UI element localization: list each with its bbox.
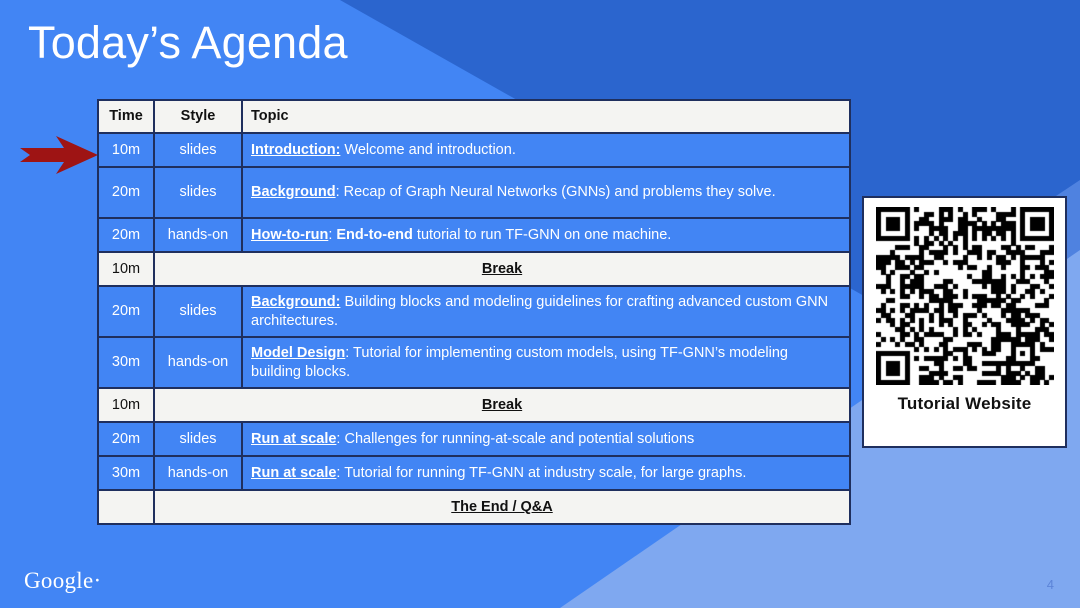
row-end-label: The End / Q&A bbox=[154, 490, 850, 524]
table-row-end: The End / Q&A bbox=[98, 490, 850, 524]
google-logo: Google· bbox=[24, 568, 101, 594]
row-time: 20m bbox=[98, 286, 154, 337]
row-style: hands-on bbox=[154, 337, 242, 388]
topic-lead: Background: bbox=[251, 294, 340, 310]
row-style: hands-on bbox=[154, 218, 242, 252]
table-row[interactable]: 20m hands-on How-to-run: End-to-end tuto… bbox=[98, 218, 850, 252]
row-topic: Model Design: Tutorial for implementing … bbox=[242, 337, 850, 388]
row-time: 30m bbox=[98, 456, 154, 490]
row-time bbox=[98, 490, 154, 524]
table-row[interactable]: 10m slides Introduction: Welcome and int… bbox=[98, 133, 850, 167]
topic-lead: Run at scale bbox=[251, 465, 336, 481]
table-row[interactable]: 20m slides Run at scale: Challenges for … bbox=[98, 422, 850, 456]
table-row[interactable]: 30m hands-on Run at scale: Tutorial for … bbox=[98, 456, 850, 490]
row-time: 10m bbox=[98, 133, 154, 167]
row-topic: Background: Building blocks and modeling… bbox=[242, 286, 850, 337]
row-style: slides bbox=[154, 286, 242, 337]
row-break-label: Break bbox=[154, 388, 850, 422]
topic-rest: : Challenges for running-at-scale and po… bbox=[336, 431, 694, 447]
right-arrow-icon bbox=[18, 134, 100, 176]
logo-dot: · bbox=[94, 568, 102, 593]
row-break-label: Break bbox=[154, 252, 850, 286]
row-topic: How-to-run: End-to-end tutorial to run T… bbox=[242, 218, 850, 252]
page-title: Today’s Agenda bbox=[28, 16, 348, 70]
table-row[interactable]: 20m slides Background: Recap of Graph Ne… bbox=[98, 167, 850, 218]
slide-canvas: Today’s Agenda Time Style Topic 10m slid… bbox=[0, 0, 1080, 608]
row-style: slides bbox=[154, 422, 242, 456]
table-row-break: 10m Break bbox=[98, 388, 850, 422]
qr-label: Tutorial Website bbox=[898, 394, 1032, 414]
row-time: 10m bbox=[98, 388, 154, 422]
topic-lead: Run at scale bbox=[251, 431, 336, 447]
topic-lead: Background bbox=[251, 184, 336, 200]
topic-lead: Model Design bbox=[251, 345, 345, 361]
row-topic: Background: Recap of Graph Neural Networ… bbox=[242, 167, 850, 218]
topic-rest: tutorial to run TF-GNN on one machine. bbox=[413, 227, 671, 243]
row-time: 20m bbox=[98, 422, 154, 456]
row-time: 10m bbox=[98, 252, 154, 286]
topic-rest: : Recap of Graph Neural Networks (GNNs) … bbox=[336, 184, 776, 200]
table-row[interactable]: 20m slides Background: Building blocks a… bbox=[98, 286, 850, 337]
header-topic: Topic bbox=[242, 100, 850, 133]
table-header-row: Time Style Topic bbox=[98, 100, 850, 133]
table-row-break: 10m Break bbox=[98, 252, 850, 286]
topic-lead: Introduction: bbox=[251, 142, 340, 158]
row-style: slides bbox=[154, 133, 242, 167]
row-style: slides bbox=[154, 167, 242, 218]
row-topic: Run at scale: Tutorial for running TF-GN… bbox=[242, 456, 850, 490]
topic-rest: : Tutorial for running TF-GNN at industr… bbox=[336, 465, 746, 481]
tutorial-website-card[interactable]: Tutorial Website bbox=[862, 196, 1067, 448]
table-row[interactable]: 30m hands-on Model Design: Tutorial for … bbox=[98, 337, 850, 388]
row-time: 30m bbox=[98, 337, 154, 388]
row-time: 20m bbox=[98, 218, 154, 252]
row-topic: Run at scale: Challenges for running-at-… bbox=[242, 422, 850, 456]
qr-code-icon[interactable] bbox=[876, 207, 1054, 385]
agenda-table: Time Style Topic 10m slides Introduction… bbox=[97, 99, 851, 525]
header-time: Time bbox=[98, 100, 154, 133]
topic-lead: How-to-run bbox=[251, 227, 328, 243]
topic-rest: Welcome and introduction. bbox=[340, 142, 515, 158]
page-number: 4 bbox=[1047, 577, 1054, 592]
row-topic: Introduction: Welcome and introduction. bbox=[242, 133, 850, 167]
row-style: hands-on bbox=[154, 456, 242, 490]
google-wordmark: Google bbox=[24, 568, 94, 593]
header-style: Style bbox=[154, 100, 242, 133]
topic-emphasis: End-to-end bbox=[336, 227, 413, 243]
row-time: 20m bbox=[98, 167, 154, 218]
